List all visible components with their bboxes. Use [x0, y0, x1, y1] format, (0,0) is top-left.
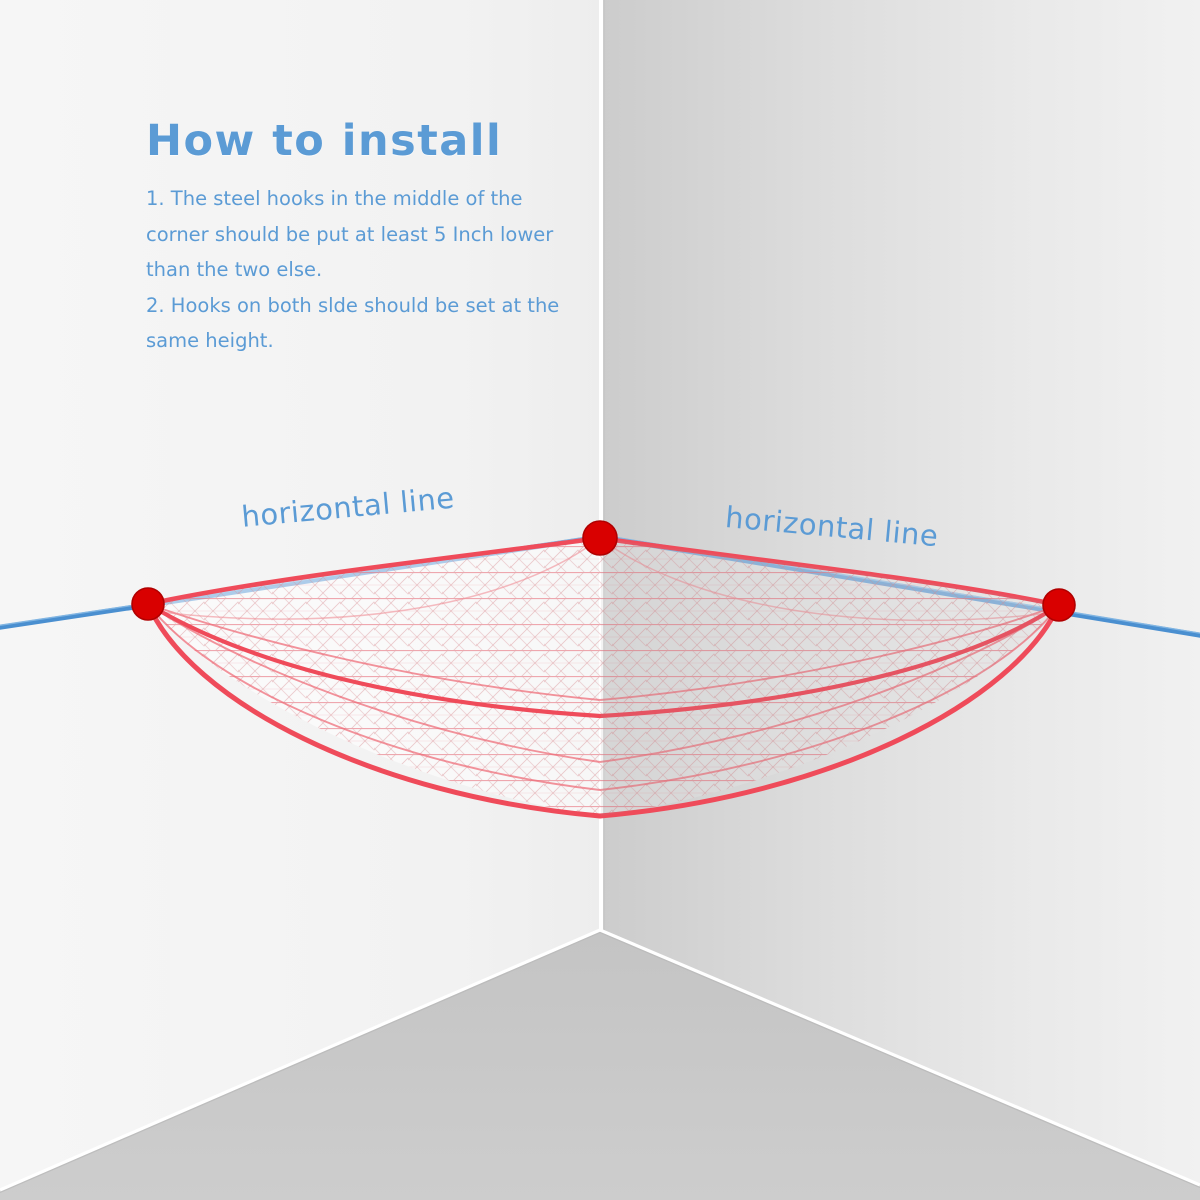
diagram-canvas: How to install 1. The steel hooks in the…: [0, 0, 1200, 1200]
center-hook-point[interactable]: [583, 521, 617, 555]
left-hook-point[interactable]: [132, 588, 164, 620]
right-hook-point[interactable]: [1043, 589, 1075, 621]
room-corner-illustration: [0, 0, 1200, 1200]
